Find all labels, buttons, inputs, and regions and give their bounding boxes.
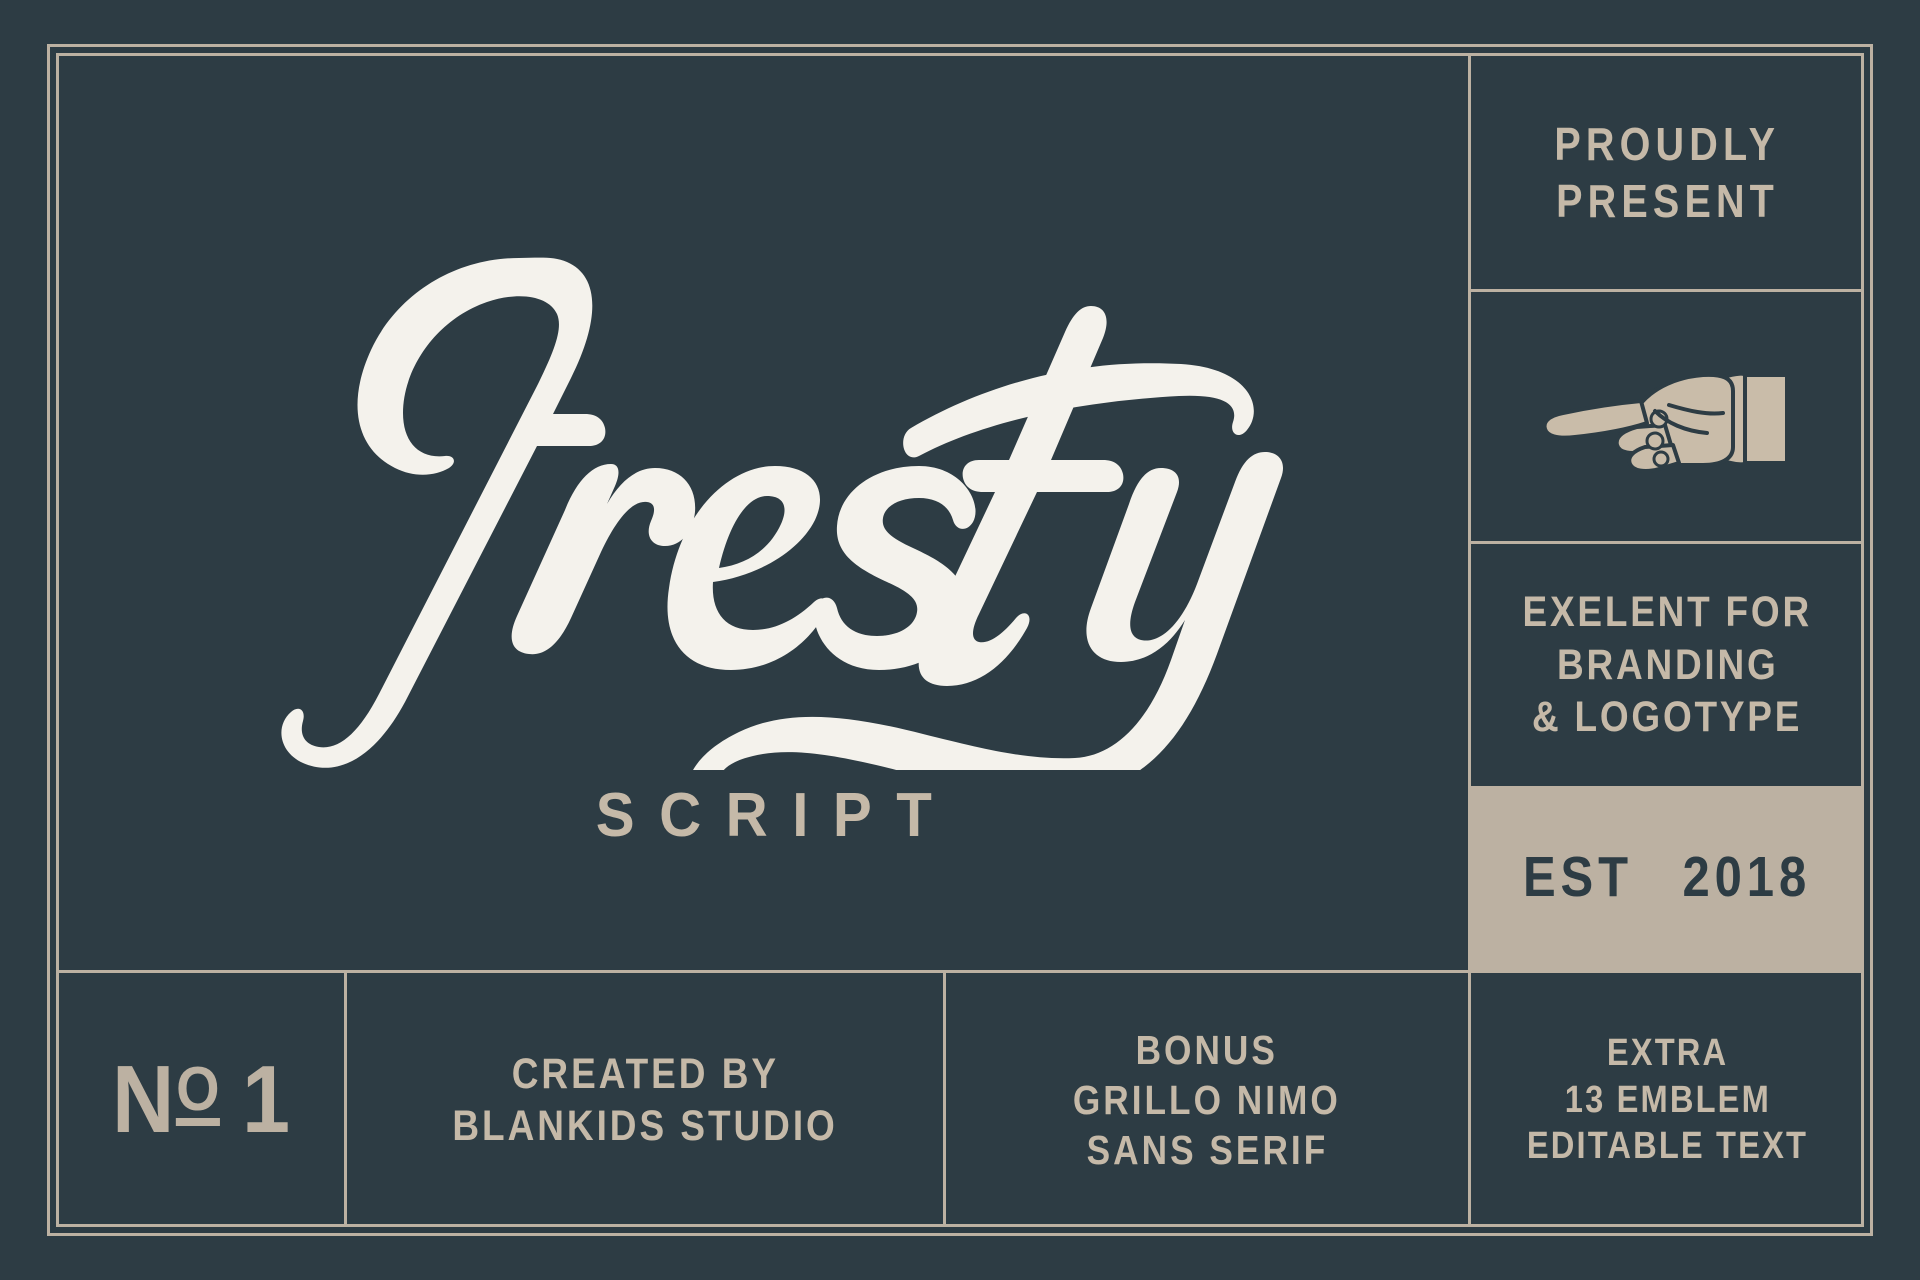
- est-label: EST: [1523, 843, 1633, 913]
- extra-line-1: EXTRA: [1607, 1030, 1728, 1076]
- proudly-line-2: PRESENT: [1556, 173, 1779, 229]
- created-line-2: BLANKIDS STUDIO: [452, 1100, 837, 1152]
- extra-line-2: 13 EMBLEM: [1564, 1077, 1770, 1123]
- created-line-1: CREATED BY: [511, 1048, 778, 1100]
- exelent-line-3: & LOGOTYPE: [1532, 691, 1802, 743]
- number-prefix: N: [112, 1045, 175, 1155]
- extra-emblem-panel: EXTRA 13 EMBLEM EDITABLE TEXT: [1471, 973, 1864, 1227]
- hero-panel: SCRIPT: [59, 56, 1468, 970]
- bonus-font-panel: BONUS GRILLO NIMO SANS SERIF: [946, 973, 1468, 1227]
- number-one-text: NO1: [112, 1045, 291, 1155]
- number-ordinal: O: [176, 1065, 220, 1126]
- est-year: 2018: [1682, 843, 1811, 913]
- created-by-panel: CREATED BY BLANKIDS STUDIO: [347, 973, 943, 1227]
- extra-line-3: EDITABLE TEXT: [1527, 1123, 1808, 1169]
- proudly-line-1: PROUDLY: [1555, 116, 1781, 172]
- script-subtitle: SCRIPT: [571, 780, 956, 851]
- bonus-line-2: GRILLO NIMO: [1073, 1075, 1341, 1125]
- number-one-panel: NO1: [59, 973, 344, 1227]
- bonus-line-3: SANS SERIF: [1086, 1125, 1328, 1175]
- exelent-line-1: EXELENT FOR: [1523, 586, 1812, 638]
- proudly-present-panel: PROUDLY PRESENT: [1471, 56, 1864, 289]
- script-wordmark: [219, 210, 1309, 770]
- poster-canvas: SCRIPT PROUDLY PRESENT: [0, 0, 1920, 1280]
- est-badge-panel: EST 2018: [1471, 786, 1864, 970]
- pointing-hand-panel: [1471, 292, 1864, 541]
- exelent-for-panel: EXELENT FOR BRANDING & LOGOTYPE: [1471, 544, 1864, 786]
- exelent-line-2: BRANDING: [1557, 639, 1778, 691]
- pointing-hand-icon: [1537, 347, 1799, 487]
- number-value: 1: [242, 1045, 291, 1155]
- bonus-line-1: BONUS: [1136, 1025, 1278, 1075]
